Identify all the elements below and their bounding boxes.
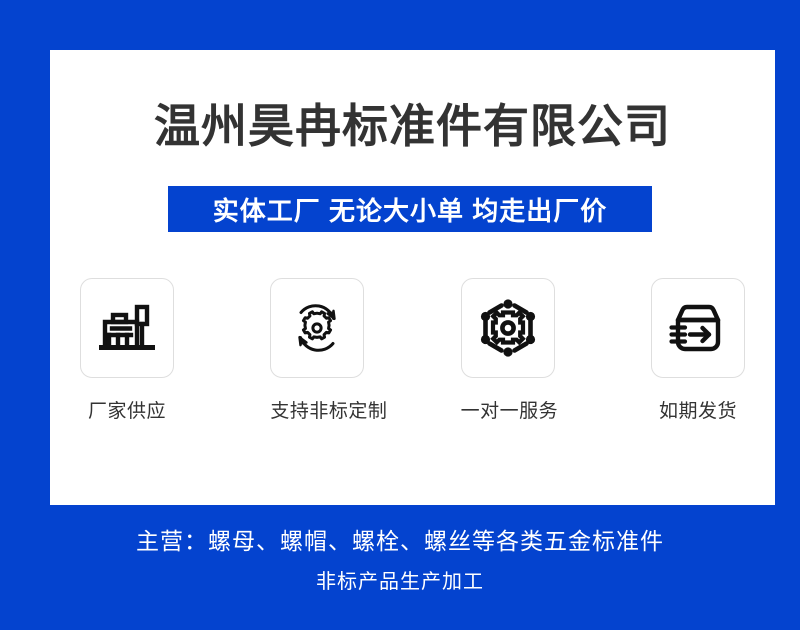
footer-line-products: 主营：螺母、螺帽、螺栓、螺丝等各类五金标准件: [0, 522, 800, 556]
feature-item-shipping: 如期发货: [651, 278, 745, 423]
feature-item-factory: 厂家供应: [80, 278, 174, 423]
slogan-banner: 实体工厂 无论大小单 均走出厂价: [168, 186, 652, 232]
footer-line-custom: 非标产品生产加工: [0, 565, 800, 594]
feature-list: 厂家供应: [80, 278, 745, 423]
feature-item-service: 一对一服务: [461, 278, 555, 423]
feature-item-custom: 支持非标定制: [270, 278, 364, 423]
feature-label: 厂家供应: [80, 396, 174, 423]
slogan-text: 实体工厂 无论大小单 均走出厂价: [213, 191, 607, 228]
feature-icon-card: [270, 278, 364, 378]
footer: 主营：螺母、螺帽、螺栓、螺丝等各类五金标准件 非标产品生产加工: [0, 522, 800, 594]
gear-refresh-icon: [289, 300, 345, 356]
feature-icon-card: [461, 278, 555, 378]
page-title: 温州昊冉标准件有限公司: [50, 90, 775, 156]
feature-icon-card: [651, 278, 745, 378]
factory-icon: [99, 301, 155, 355]
promo-banner: { "colors": { "brand_blue": "#0443CF", "…: [0, 0, 800, 630]
feature-label: 支持非标定制: [270, 396, 364, 423]
content-card: 温州昊冉标准件有限公司 实体工厂 无论大小单 均走出厂价: [50, 50, 775, 505]
package-ship-icon: [669, 301, 727, 355]
hexagon-node-icon: [479, 299, 537, 357]
feature-icon-card: [80, 278, 174, 378]
feature-label: 一对一服务: [461, 396, 555, 423]
feature-label: 如期发货: [651, 396, 745, 423]
